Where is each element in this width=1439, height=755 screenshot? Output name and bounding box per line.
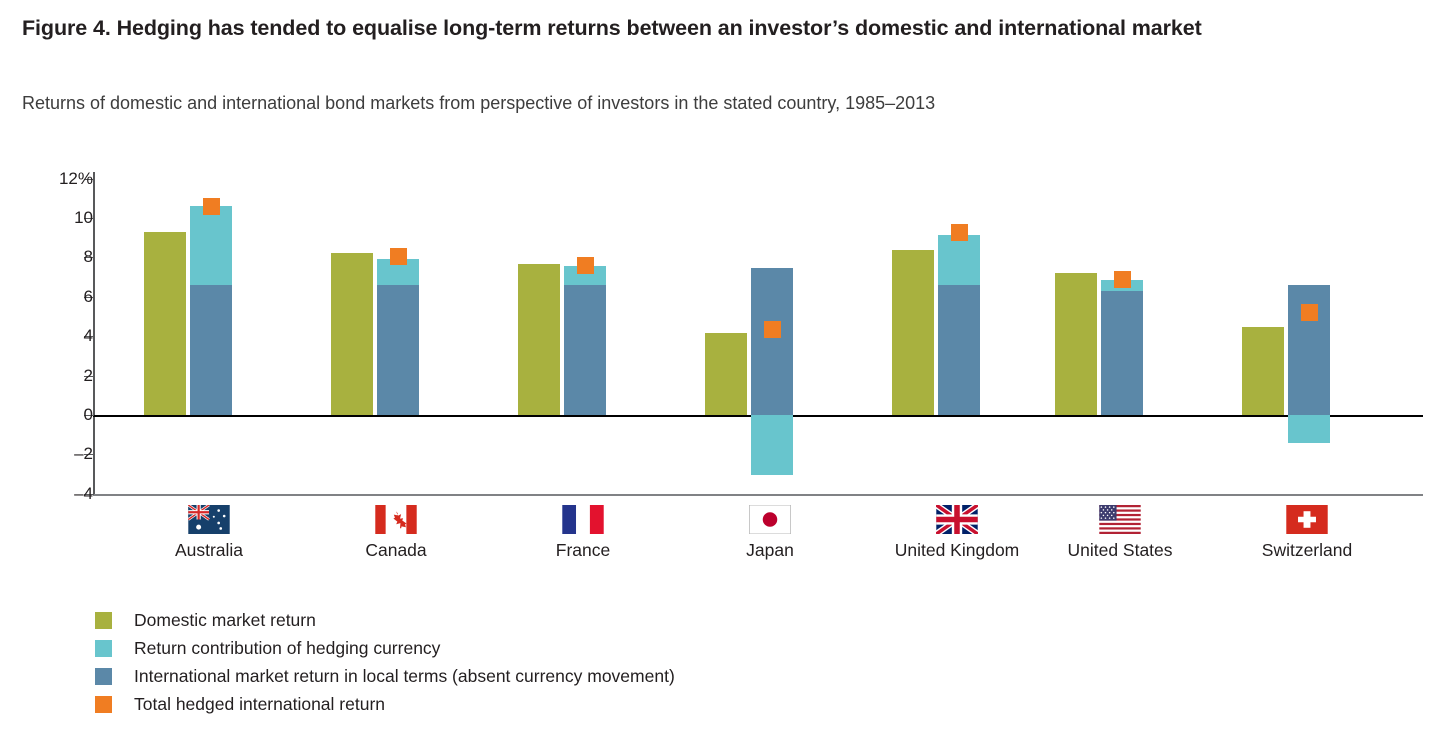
bar-domestic-australia bbox=[144, 232, 186, 415]
legend-item-0: Domestic market return bbox=[95, 606, 995, 634]
bar-domestic-canada bbox=[331, 253, 373, 415]
bar-domestic-united-kingdom bbox=[892, 250, 934, 415]
bar-international-united-states bbox=[1101, 291, 1143, 415]
category-label-united-kingdom: United Kingdom bbox=[862, 542, 1052, 560]
chart-legend: Domestic market returnReturn contributio… bbox=[95, 606, 995, 718]
bar-series-container bbox=[0, 150, 1439, 510]
chart-plot-area: 12%1086420–2–4 bbox=[0, 150, 1439, 510]
bar-domestic-united-states bbox=[1055, 273, 1097, 415]
bar-domestic-switzerland bbox=[1242, 327, 1284, 415]
bar-hedging-japan bbox=[751, 415, 793, 475]
france-flag bbox=[562, 505, 604, 534]
bar-domestic-france bbox=[518, 264, 560, 415]
category-axis: Australia Canada France Japan United Kin… bbox=[0, 505, 1439, 580]
legend-swatch-hedging bbox=[95, 640, 112, 657]
bar-international-united-kingdom bbox=[938, 285, 980, 415]
category-japan: Japan bbox=[675, 505, 865, 560]
australia-flag bbox=[188, 505, 230, 534]
marker-total-hedged-australia bbox=[203, 198, 220, 215]
legend-label-1: Return contribution of hedging currency bbox=[134, 634, 440, 662]
marker-total-hedged-united-kingdom bbox=[951, 224, 968, 241]
united-states-flag bbox=[1099, 505, 1141, 534]
legend-label-0: Domestic market return bbox=[134, 606, 316, 634]
bar-hedging-united-kingdom bbox=[938, 235, 980, 285]
japan-flag bbox=[749, 505, 791, 534]
category-label-japan: Japan bbox=[675, 542, 865, 560]
legend-item-2: International market return in local ter… bbox=[95, 662, 995, 690]
legend-swatch-domestic bbox=[95, 612, 112, 629]
canada-flag bbox=[375, 505, 417, 534]
marker-total-hedged-france bbox=[577, 257, 594, 274]
marker-total-hedged-united-states bbox=[1114, 271, 1131, 288]
bar-domestic-japan bbox=[705, 333, 747, 415]
legend-item-3: Total hedged international return bbox=[95, 690, 995, 718]
category-france: France bbox=[488, 505, 678, 560]
bar-international-japan bbox=[751, 268, 793, 415]
figure-title: Figure 4. Hedging has tended to equalise… bbox=[22, 16, 1202, 41]
legend-item-1: Return contribution of hedging currency bbox=[95, 634, 995, 662]
category-australia: Australia bbox=[114, 505, 304, 560]
legend-label-2: International market return in local ter… bbox=[134, 662, 675, 690]
category-label-france: France bbox=[488, 542, 678, 560]
united-kingdom-flag bbox=[936, 505, 978, 534]
figure-page: Figure 4. Hedging has tended to equalise… bbox=[0, 0, 1439, 755]
category-label-australia: Australia bbox=[114, 542, 304, 560]
bar-hedging-switzerland bbox=[1288, 415, 1330, 443]
legend-label-3: Total hedged international return bbox=[134, 690, 385, 718]
figure-subtitle: Returns of domestic and international bo… bbox=[22, 93, 935, 114]
category-label-canada: Canada bbox=[301, 542, 491, 560]
bar-international-canada bbox=[377, 285, 419, 415]
legend-swatch-total bbox=[95, 696, 112, 713]
category-label-united-states: United States bbox=[1025, 542, 1215, 560]
bar-international-australia bbox=[190, 285, 232, 415]
legend-swatch-international bbox=[95, 668, 112, 685]
bar-hedging-australia bbox=[190, 206, 232, 285]
switzerland-flag bbox=[1286, 505, 1328, 534]
category-label-switzerland: Switzerland bbox=[1212, 542, 1402, 560]
marker-total-hedged-switzerland bbox=[1301, 304, 1318, 321]
bar-international-france bbox=[564, 285, 606, 415]
category-united-states: United States bbox=[1025, 505, 1215, 560]
marker-total-hedged-canada bbox=[390, 248, 407, 265]
category-switzerland: Switzerland bbox=[1212, 505, 1402, 560]
marker-total-hedged-japan bbox=[764, 321, 781, 338]
category-canada: Canada bbox=[301, 505, 491, 560]
category-united-kingdom: United Kingdom bbox=[862, 505, 1052, 560]
